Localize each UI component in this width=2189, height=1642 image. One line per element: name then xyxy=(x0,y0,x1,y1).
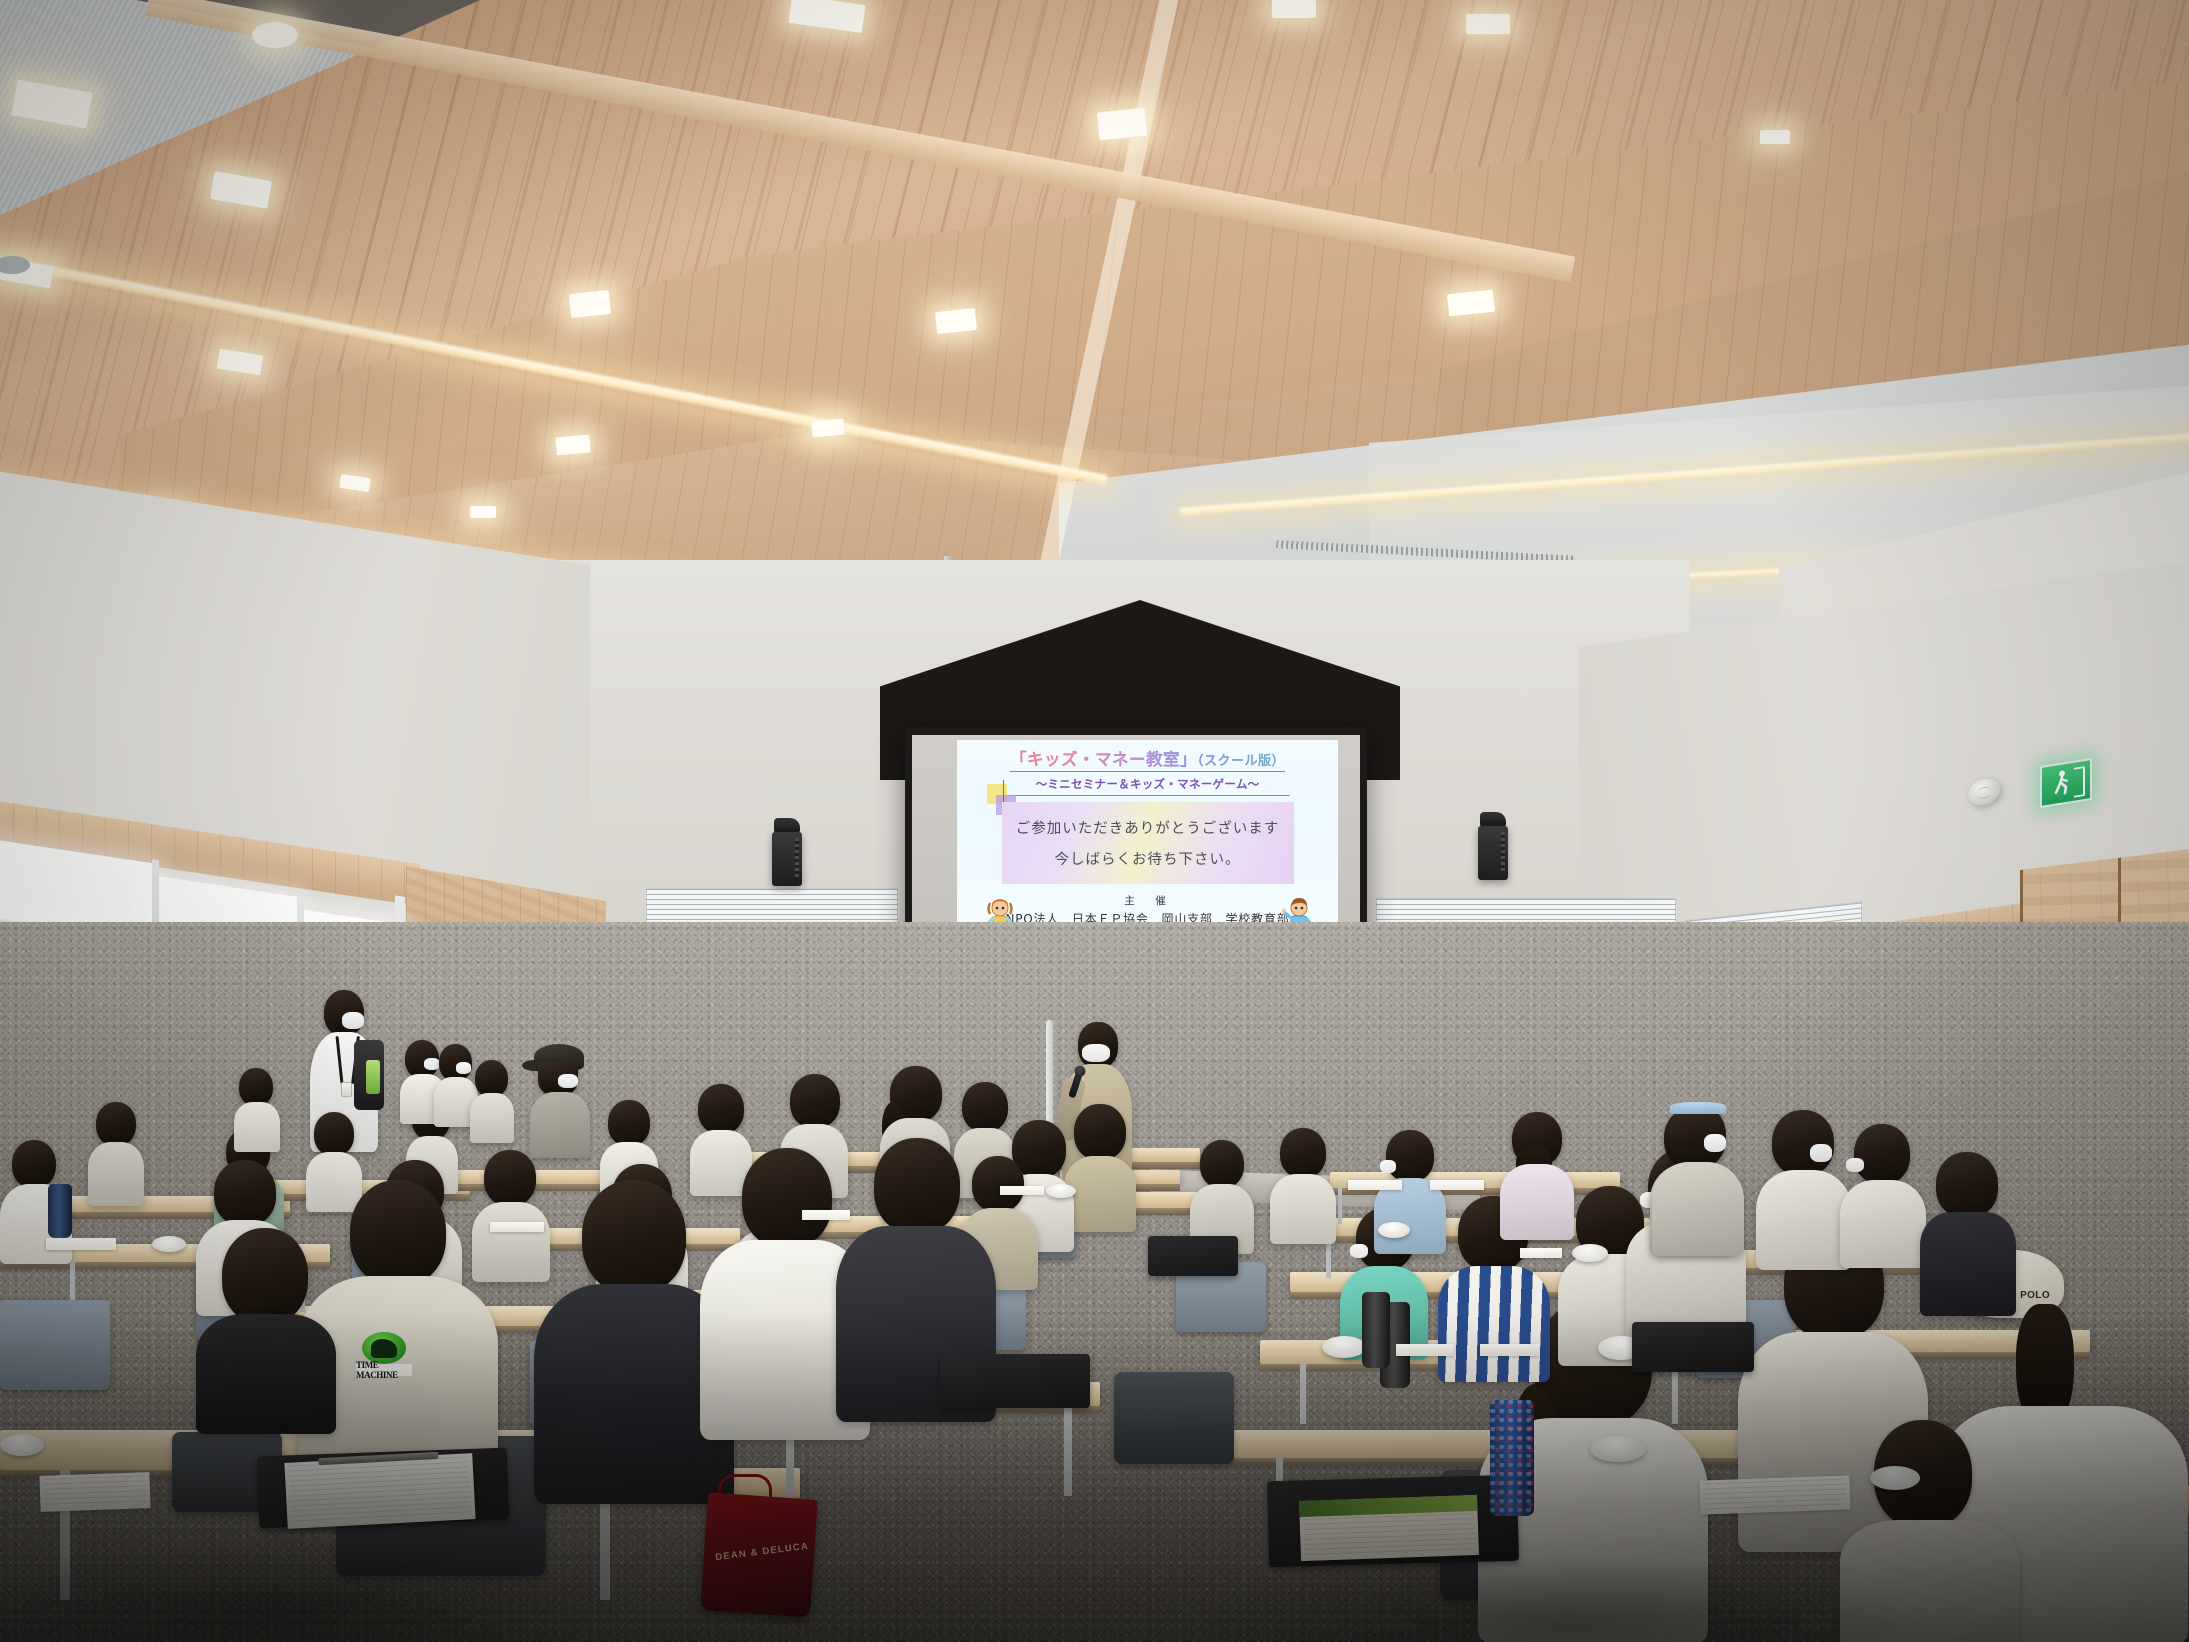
black-bag xyxy=(940,1354,1090,1408)
head xyxy=(1772,1110,1834,1176)
torso xyxy=(234,1102,280,1152)
dean-and-deluca-tote: DEAN & DELUCA xyxy=(700,1492,818,1617)
water-bottle-patterned xyxy=(1490,1400,1534,1516)
audience-member xyxy=(88,1102,144,1202)
worksheet-lines xyxy=(1704,1479,1847,1512)
water-bottle xyxy=(48,1184,72,1238)
audience-member xyxy=(1500,1112,1574,1234)
head xyxy=(790,1074,840,1128)
face-mask xyxy=(1380,1160,1396,1173)
worksheet xyxy=(1000,1186,1044,1195)
desk-leg xyxy=(1300,1364,1306,1424)
sanitizer-bottle xyxy=(366,1060,380,1094)
downlight-icon xyxy=(555,435,590,456)
worksheet xyxy=(802,1210,850,1220)
paper-bowl xyxy=(1322,1336,1366,1358)
worksheet xyxy=(39,1472,150,1512)
downlight-icon xyxy=(1466,14,1510,34)
paper-bowl xyxy=(0,1434,44,1456)
ceiling-vent-round xyxy=(252,22,298,48)
worksheet xyxy=(1480,1344,1540,1356)
paper-bowl xyxy=(152,1236,186,1252)
torso xyxy=(530,1092,590,1158)
black-backpack xyxy=(1632,1322,1754,1372)
torso xyxy=(1500,1164,1574,1240)
face-mask xyxy=(1082,1044,1110,1062)
torso xyxy=(196,1314,336,1434)
face-mask xyxy=(342,1012,364,1029)
chair[interactable] xyxy=(1114,1372,1234,1464)
paper-bowl xyxy=(1870,1466,1920,1490)
head xyxy=(1936,1152,1998,1218)
wall-speaker-left xyxy=(772,832,802,886)
slide-message-line-2: 今しばらくお待ち下さい。 xyxy=(1055,848,1241,869)
head xyxy=(12,1140,56,1188)
running-man-icon xyxy=(2054,768,2070,801)
audience-member xyxy=(1920,1152,2016,1312)
face-mask xyxy=(1350,1244,1368,1258)
downlight-icon xyxy=(1760,130,1790,144)
torso xyxy=(1920,1212,2016,1316)
torso-striped xyxy=(1438,1266,1550,1382)
head xyxy=(1854,1124,1910,1184)
head xyxy=(214,1160,276,1226)
audience-member xyxy=(196,1228,336,1428)
audience-member xyxy=(470,1060,514,1140)
worksheet xyxy=(46,1238,116,1250)
audience-member xyxy=(1756,1110,1852,1266)
head xyxy=(874,1138,960,1234)
tshirt-graphic: TIME MACHINE xyxy=(356,1332,412,1376)
seminar-room-photo: 「キッズ・マネー教室」（スクール版） 〜ミニセミナー＆キッズ・マネーゲーム〜 ご… xyxy=(0,0,2189,1642)
flyer-text-lines xyxy=(1304,1513,1475,1558)
paper-bowl xyxy=(1378,1222,1410,1238)
slide-title: 「キッズ・マネー教室」（スクール版） xyxy=(1010,746,1285,772)
head xyxy=(239,1068,273,1106)
slide-subtitle: 〜ミニセミナー＆キッズ・マネーゲーム〜 xyxy=(1036,776,1260,792)
worksheet xyxy=(1520,1248,1562,1258)
downlight-icon xyxy=(1097,108,1148,141)
clipboard xyxy=(284,1453,475,1529)
slide-message-line-1: ご参加いただきありがとうございます xyxy=(1016,817,1280,838)
worksheet xyxy=(490,1222,544,1232)
worksheet-lines xyxy=(289,1456,472,1525)
audience-member xyxy=(1840,1420,2020,1642)
head xyxy=(608,1100,650,1146)
audience-member xyxy=(234,1068,280,1150)
downlight-icon xyxy=(470,506,496,518)
slide-host-label: 主 催 xyxy=(1124,893,1171,908)
head xyxy=(1386,1130,1434,1182)
cap-brand-text: POLO xyxy=(2020,1290,2050,1301)
torso xyxy=(1270,1174,1336,1244)
exit-door-icon xyxy=(2074,766,2085,798)
id-badge xyxy=(341,1082,352,1097)
tshirt-text-band: TIME MACHINE xyxy=(356,1364,412,1376)
chair[interactable] xyxy=(0,1300,110,1390)
paper-bowl xyxy=(1572,1244,1608,1262)
wall-speaker-right xyxy=(1478,826,1508,880)
downlight-icon xyxy=(811,419,844,438)
audience-member-with-headband xyxy=(1652,1100,1744,1250)
torso xyxy=(1064,1156,1136,1232)
audience-member xyxy=(1840,1124,1926,1264)
audience-member-with-cap xyxy=(530,1044,590,1154)
emergency-exit-sign-icon xyxy=(2040,758,2092,808)
head xyxy=(698,1084,744,1134)
water-bottle xyxy=(1362,1292,1390,1368)
tote-brand-text: DEAN & DELUCA xyxy=(715,1543,792,1563)
head xyxy=(350,1180,446,1286)
worksheet-lines xyxy=(44,1475,147,1509)
torso xyxy=(470,1093,514,1143)
downlight-icon xyxy=(935,308,977,334)
head xyxy=(582,1180,686,1294)
torso xyxy=(1840,1520,2020,1642)
head xyxy=(1280,1128,1326,1178)
head xyxy=(96,1102,136,1146)
slide-divider xyxy=(1005,795,1290,796)
face-mask xyxy=(558,1074,578,1088)
torso xyxy=(1756,1170,1852,1270)
torso xyxy=(88,1142,144,1206)
head xyxy=(1200,1140,1244,1188)
worksheet xyxy=(1396,1344,1454,1356)
head xyxy=(742,1148,832,1248)
audience-member xyxy=(1064,1104,1136,1224)
head xyxy=(475,1060,508,1097)
black-bag xyxy=(1148,1236,1238,1276)
head xyxy=(1074,1104,1126,1160)
downlight-icon xyxy=(569,290,611,318)
worksheet xyxy=(1348,1180,1402,1190)
audience-member xyxy=(1270,1128,1336,1240)
paper-bowl xyxy=(1046,1184,1076,1198)
torso xyxy=(1652,1162,1744,1256)
face-mask xyxy=(1810,1144,1832,1162)
paper-bowl xyxy=(1590,1436,1646,1462)
torso xyxy=(1840,1180,1926,1268)
worksheet xyxy=(1699,1475,1850,1514)
slide-message-box: ご参加いただきありがとうございます 今しばらくお待ち下さい。 xyxy=(1002,802,1294,884)
head xyxy=(222,1228,308,1324)
face-mask xyxy=(1704,1134,1726,1152)
downlight-icon xyxy=(1272,0,1316,18)
event-flyer xyxy=(1299,1495,1479,1561)
desk-leg xyxy=(1064,1406,1072,1496)
face-mask xyxy=(1846,1158,1864,1172)
headband xyxy=(1670,1102,1726,1114)
head xyxy=(314,1112,354,1156)
face-mask xyxy=(456,1062,471,1074)
worksheet xyxy=(1430,1180,1484,1190)
